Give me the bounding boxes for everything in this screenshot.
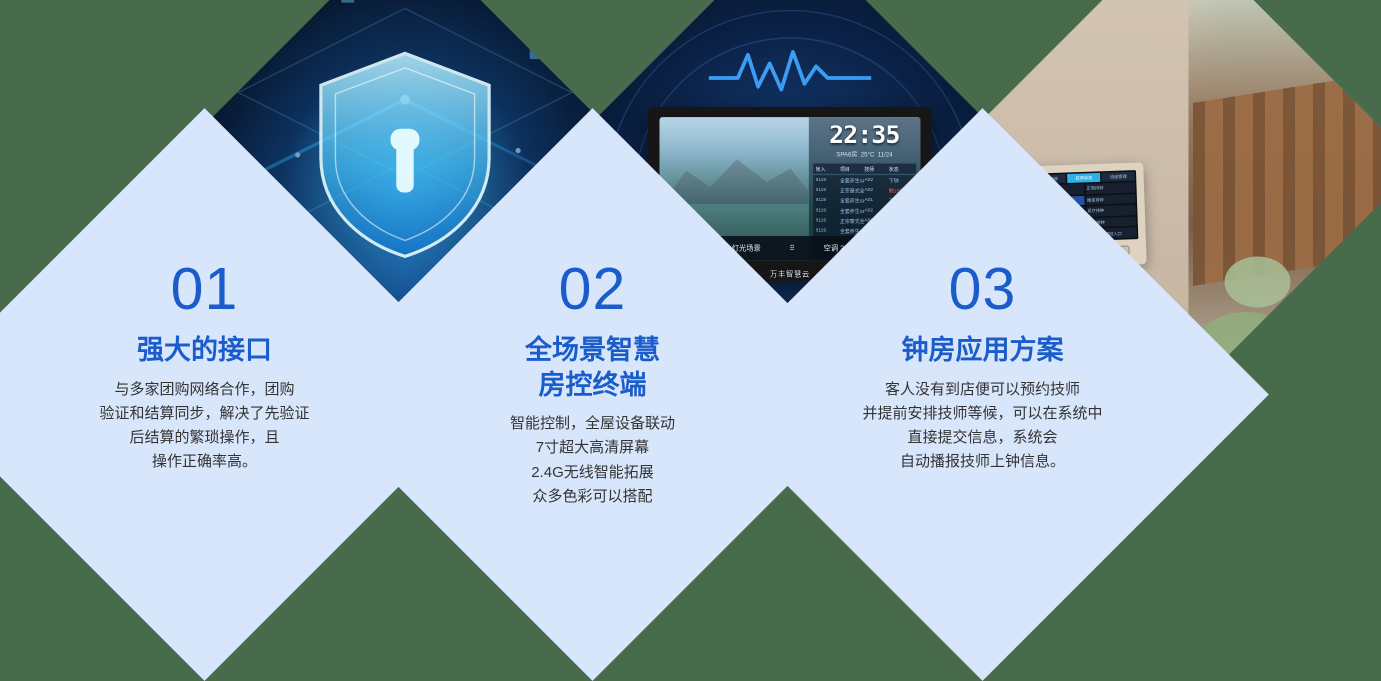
panel-tab-selected[interactable]: 技师状态 (1068, 173, 1101, 183)
card-1-number: 01 (171, 260, 239, 319)
panel-tab[interactable]: 班组管理 (1102, 172, 1135, 182)
card-2-description: 智能控制，全屋设备联动 7寸超大高清屏幕 2.4G无线智能拓展 众多色彩可以搭配 (510, 412, 675, 509)
heartbeat-pulse-icon (709, 47, 871, 96)
card-2-title: 全场景智慧 房控终端 (525, 333, 660, 402)
card-1-description: 与多家团购网络合作，团购 验证和结算同步，解决了先验证 后结算的繁琐操作，且 操… (99, 378, 309, 475)
panel-list-item[interactable]: 推拿排钟 (1086, 193, 1136, 205)
card-2-number: 02 (559, 260, 627, 319)
card-3-description: 客人没有到店便可以预约技师 并提前安排技师等候，可以在系统中 直接提交信息，系统… (862, 378, 1102, 475)
table-row: 8119 全套养生SPA A02 下钟 (813, 176, 917, 186)
wooden-railing (1193, 64, 1381, 286)
terminal-room-info: SPA6房 25°C 11/24 (808, 151, 920, 164)
apps-grid-icon[interactable]: ⠿ (790, 245, 795, 254)
card-3-title: 钟房应用方案 (902, 333, 1064, 368)
card-3-number: 03 (949, 260, 1017, 319)
panel-list-item[interactable]: 正常排钟 (1085, 182, 1135, 194)
table-header: 帐入 项目 技师 状态 (813, 164, 917, 176)
panel-list-item[interactable]: 足疗排钟 (1086, 205, 1136, 217)
diamond-feature-stage: 01 强大的接口 与多家团购网络合作，团购 验证和结算同步，解决了先验证 后结算… (0, 0, 1381, 603)
terminal-clock: 22:35 (808, 118, 920, 151)
card-1-title: 强大的接口 (137, 333, 272, 368)
